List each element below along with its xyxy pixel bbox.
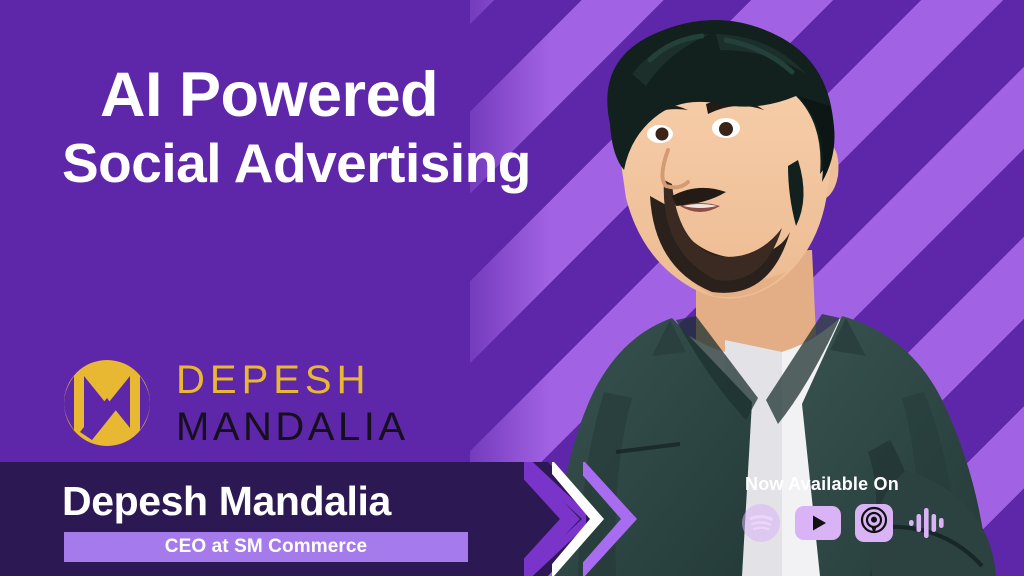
speaker-name: Depesh Mandalia: [62, 478, 391, 525]
availability-label: Now Available On: [745, 474, 1005, 495]
brand-logo: DEPESH MANDALIA: [62, 358, 409, 448]
podcast-episode-slide: AI Powered Social Advertising: [0, 0, 1024, 576]
headline-line-1: AI Powered: [100, 62, 531, 129]
headline-block: AI Powered Social Advertising: [100, 62, 531, 196]
apple-podcasts-icon[interactable]: [855, 504, 893, 542]
brand-word-bottom: MANDALIA: [176, 407, 409, 447]
depesh-mandalia-monogram-icon: [62, 358, 152, 448]
brand-wordmark: DEPESH MANDALIA: [176, 360, 409, 447]
platform-icon-row: [741, 503, 1005, 543]
youtube-icon[interactable]: [795, 506, 841, 540]
brand-word-top: DEPESH: [176, 360, 409, 400]
headline-line-2: Social Advertising: [62, 131, 531, 196]
speaker-role: CEO at SM Commerce: [165, 536, 367, 558]
google-podcasts-icon[interactable]: [907, 505, 947, 541]
speaker-role-band: CEO at SM Commerce: [64, 532, 468, 562]
spotify-icon[interactable]: [741, 503, 781, 543]
chevron-light-purple-icon: [583, 462, 645, 576]
availability-block: Now Available On: [745, 474, 1005, 543]
